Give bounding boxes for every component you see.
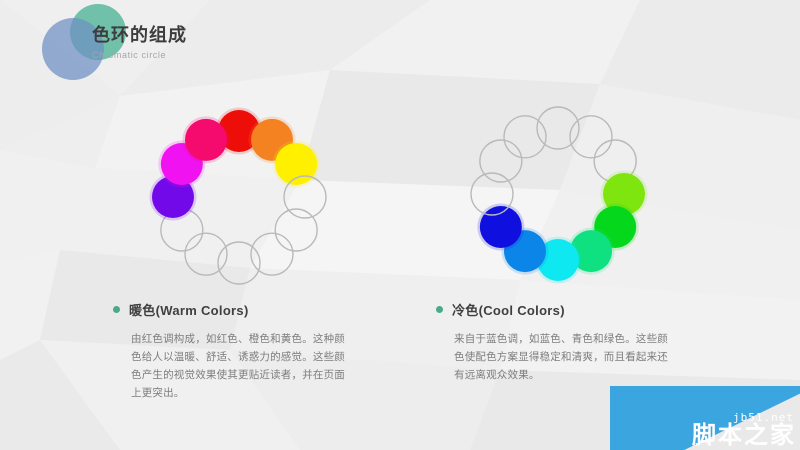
- watermark: jb51.net 脚本之家: [610, 386, 800, 450]
- warm-colors-title: 暖色(Warm Colors): [129, 300, 249, 319]
- bullet-icon: [113, 306, 120, 313]
- watermark-site-name: 脚本之家: [692, 422, 796, 450]
- cool-color-wheel: [465, 101, 651, 287]
- bullet-icon: [436, 306, 443, 313]
- warm-color-wheel: [146, 104, 332, 290]
- page-subtitle: Chromatic circle: [92, 49, 187, 61]
- warm-colors-block: 暖色(Warm Colors) 由红色调构成，如红色、橙色和黄色。这种颜色给人以…: [113, 300, 346, 402]
- cool-colors-heading: 冷色(Cool Colors): [436, 300, 669, 319]
- cool-colors-body: 来自于蓝色调，如蓝色、青色和绿色。这些颜色使配色方案显得稳定和清爽，而且看起来还…: [454, 330, 669, 384]
- page-title: 色环的组成: [92, 24, 187, 46]
- cool-colors-block: 冷色(Cool Colors) 来自于蓝色调，如蓝色、青色和绿色。这些颜色使配色…: [436, 300, 669, 384]
- warm-colors-heading: 暖色(Warm Colors): [113, 300, 346, 319]
- slide-canvas: 色环的组成 Chromatic circle 暖色(Warm Colors) 由…: [0, 0, 800, 450]
- cool-colors-title: 冷色(Cool Colors): [452, 300, 565, 319]
- warm-colors-body: 由红色调构成，如红色、橙色和黄色。这种颜色给人以温暖、舒适、诱惑力的感觉。这些颜…: [131, 330, 346, 402]
- color-dot-pink[interactable]: [185, 119, 227, 161]
- header-text: 色环的组成 Chromatic circle: [92, 24, 187, 61]
